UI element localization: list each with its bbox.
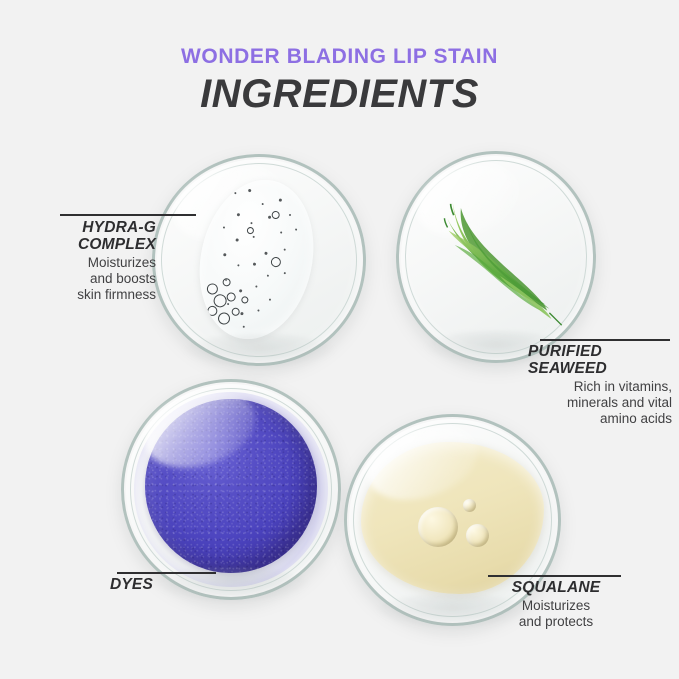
ingredient-name-dyes: DYES bbox=[110, 576, 220, 593]
ingredient-description-purified-seaweed: Rich in vitamins, minerals and vital ami… bbox=[528, 379, 672, 427]
ingredient-name-squalane: SQUALANE bbox=[486, 579, 626, 596]
page-title: INGREDIENTS bbox=[0, 72, 679, 117]
seaweed-icon bbox=[428, 181, 572, 334]
leader-line-squalane bbox=[488, 575, 621, 577]
ingredient-name-hydra-g-complex: HYDRA-G COMPLEX bbox=[20, 219, 156, 253]
ingredient-name-purified-seaweed: PURIFIED SEAWEED bbox=[528, 343, 672, 377]
leader-line-hydra-g-complex bbox=[60, 214, 196, 216]
brand-heading: WONDER BLADING LIP STAIN bbox=[0, 45, 679, 69]
leader-line-purified-seaweed bbox=[540, 339, 670, 341]
dish-base-shadow bbox=[182, 334, 336, 368]
petri-dish-hydra-g-complex bbox=[152, 154, 366, 366]
leader-line-dyes bbox=[117, 572, 216, 574]
callout-purified-seaweed: PURIFIED SEAWEED Rich in vitamins, miner… bbox=[528, 343, 672, 427]
ingredient-description-hydra-g-complex: Moisturizes and boosts skin firmness bbox=[20, 255, 156, 303]
seaweed-content bbox=[428, 181, 572, 334]
petri-dish-purified-seaweed bbox=[396, 151, 596, 363]
callout-dyes: DYES bbox=[110, 576, 220, 595]
callout-squalane: SQUALANE Moisturizes and protects bbox=[486, 579, 626, 630]
ingredients-infographic: WONDER BLADING LIP STAIN INGREDIENTS bbox=[0, 0, 679, 679]
dish-rim-inner-ring bbox=[130, 388, 332, 591]
ingredient-description-squalane: Moisturizes and protects bbox=[486, 598, 626, 630]
petri-dish-dyes bbox=[121, 379, 341, 600]
callout-hydra-g-complex: HYDRA-G COMPLEX Moisturizes and boosts s… bbox=[20, 219, 156, 303]
